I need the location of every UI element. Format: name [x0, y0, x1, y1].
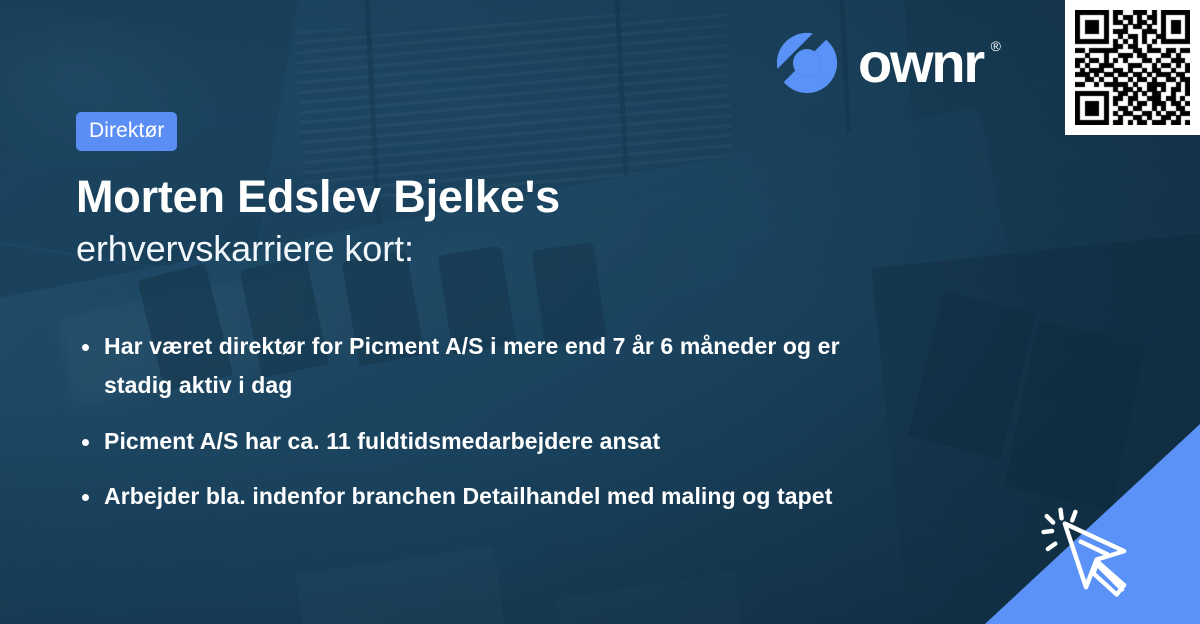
career-card: ownr® Direktør Morten Edslev Bjelke's er… [0, 0, 1200, 624]
career-facts-list: Har været direktør for Picment A/S i mer… [76, 327, 906, 517]
click-cursor-icon [1033, 496, 1139, 602]
list-item: Har været direktør for Picment A/S i mer… [76, 327, 906, 406]
qr-code-panel[interactable] [1065, 0, 1200, 135]
registered-trademark-icon: ® [991, 39, 1001, 53]
qr-code-icon[interactable] [1075, 10, 1190, 125]
ownr-wordmark: ownr® [858, 35, 1001, 91]
list-item: Picment A/S har ca. 11 fuldtidsmedarbejd… [76, 422, 906, 462]
cursor-corner [985, 424, 1200, 624]
ownr-wordmark-text: ownr [858, 31, 983, 94]
page-subtitle: erhvervskarriere kort: [76, 229, 1200, 269]
role-badge: Direktør [76, 112, 177, 151]
list-item: Arbejder bla. indenfor branchen Detailha… [76, 477, 906, 517]
page-title: Morten Edslev Bjelke's [76, 173, 1200, 220]
ownr-circle-swoosh-icon [772, 28, 842, 98]
ownr-logo: ownr® [772, 28, 1001, 98]
